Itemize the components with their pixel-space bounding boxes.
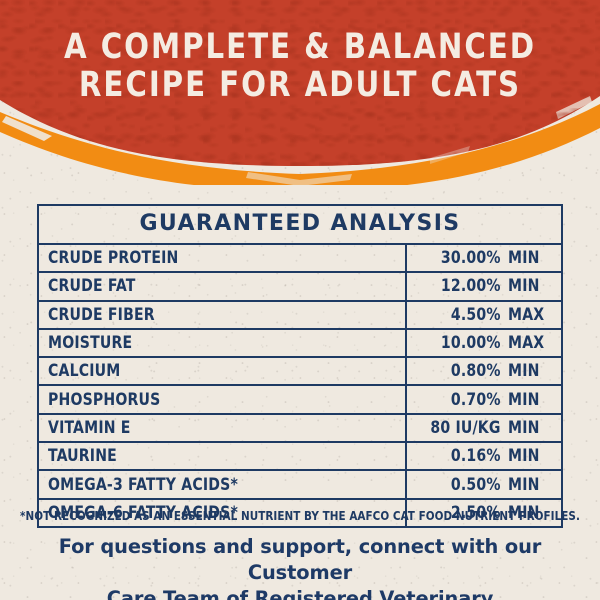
nutrient-name-cell: TAURINE	[39, 443, 407, 469]
nutrient-value-cell: 0.16%MIN	[407, 443, 561, 469]
nutrient-limit: MIN	[508, 276, 548, 296]
header-banner: A COMPLETE & BALANCED RECIPE FOR ADULT C…	[0, 0, 600, 185]
guaranteed-analysis-block: GUARANTEED ANALYSIS CRUDE PROTEIN30.00%M…	[37, 204, 563, 528]
nutrient-value-cell: 10.00%MAX	[407, 330, 561, 356]
header-shapes	[0, 0, 600, 185]
table-row: MOISTURE10.00%MAX	[39, 330, 561, 358]
nutrient-amount: 80 IU/KG	[415, 418, 508, 438]
nutrient-name: MOISTURE	[48, 333, 132, 353]
nutrient-amount: 0.70%	[415, 390, 508, 410]
closing-line-1: For questions and support, connect with …	[40, 534, 560, 586]
nutrient-name: TAURINE	[48, 446, 117, 466]
nutrient-name-cell: CRUDE PROTEIN	[39, 245, 407, 271]
table-row: VITAMIN E80 IU/KGMIN	[39, 415, 561, 443]
closing-line-2: Care Team of Registered Veterinary Techn…	[40, 586, 560, 600]
nutrient-amount: 0.16%	[415, 446, 508, 466]
nutrient-amount: 30.00%	[415, 248, 508, 268]
nutrient-name-cell: CRUDE FAT	[39, 273, 407, 299]
nutrient-limit: MAX	[508, 333, 548, 353]
nutrient-name: PHOSPHORUS	[48, 390, 160, 410]
nutrient-name: CRUDE FIBER	[48, 305, 155, 325]
nutrient-name-cell: VITAMIN E	[39, 415, 407, 441]
table-row: CRUDE FIBER4.50%MAX	[39, 302, 561, 330]
nutrient-amount: 0.50%	[415, 475, 508, 495]
nutrient-amount: 0.80%	[415, 361, 508, 381]
nutrient-value-cell: 80 IU/KGMIN	[407, 415, 561, 441]
guaranteed-analysis-table: GUARANTEED ANALYSIS CRUDE PROTEIN30.00%M…	[37, 204, 563, 528]
nutrient-value-cell: 12.00%MIN	[407, 273, 561, 299]
nutrient-name: CRUDE PROTEIN	[48, 248, 179, 268]
nutrient-amount: 10.00%	[415, 333, 508, 353]
nutrient-name-cell: CALCIUM	[39, 358, 407, 384]
closing-message: For questions and support, connect with …	[40, 534, 560, 600]
table-row: PHOSPHORUS0.70%MIN	[39, 386, 561, 414]
nutrient-limit: MIN	[508, 390, 548, 410]
nutrient-limit: MIN	[508, 446, 548, 466]
product-label-panel: A COMPLETE & BALANCED RECIPE FOR ADULT C…	[0, 0, 600, 600]
nutrient-value-cell: 4.50%MAX	[407, 302, 561, 328]
nutrient-amount: 12.00%	[415, 276, 508, 296]
nutrient-limit: MAX	[508, 305, 548, 325]
nutrient-limit: MIN	[508, 248, 548, 268]
nutrient-name: VITAMIN E	[48, 418, 131, 438]
nutrient-limit: MIN	[508, 361, 548, 381]
nutrient-value-cell: 0.80%MIN	[407, 358, 561, 384]
table-row: TAURINE0.16%MIN	[39, 443, 561, 471]
nutrient-name-cell: OMEGA-3 FATTY ACIDS*	[39, 471, 407, 497]
table-row: CRUDE FAT12.00%MIN	[39, 273, 561, 301]
footnote: *NOT RECOGNIZED AS AN ESSENTIAL NUTRIENT…	[18, 509, 582, 523]
nutrient-value-cell: 0.50%MIN	[407, 471, 561, 497]
nutrient-value-cell: 30.00%MIN	[407, 245, 561, 271]
table-row: CRUDE PROTEIN30.00%MIN	[39, 245, 561, 273]
table-row: OMEGA-3 FATTY ACIDS*0.50%MIN	[39, 471, 561, 499]
nutrient-value-cell: 0.70%MIN	[407, 386, 561, 412]
nutrient-name-cell: CRUDE FIBER	[39, 302, 407, 328]
table-row: CALCIUM0.80%MIN	[39, 358, 561, 386]
nutrient-limit: MIN	[508, 418, 548, 438]
nutrient-name: CRUDE FAT	[48, 276, 136, 296]
table-title: GUARANTEED ANALYSIS	[39, 206, 561, 245]
nutrient-name: OMEGA-3 FATTY ACIDS*	[48, 475, 238, 495]
nutrient-limit: MIN	[508, 475, 548, 495]
nutrient-amount: 4.50%	[415, 305, 508, 325]
nutrient-name: CALCIUM	[48, 361, 120, 381]
nutrient-name-cell: MOISTURE	[39, 330, 407, 356]
nutrient-name-cell: PHOSPHORUS	[39, 386, 407, 412]
table-body: CRUDE PROTEIN30.00%MINCRUDE FAT12.00%MIN…	[39, 245, 561, 526]
